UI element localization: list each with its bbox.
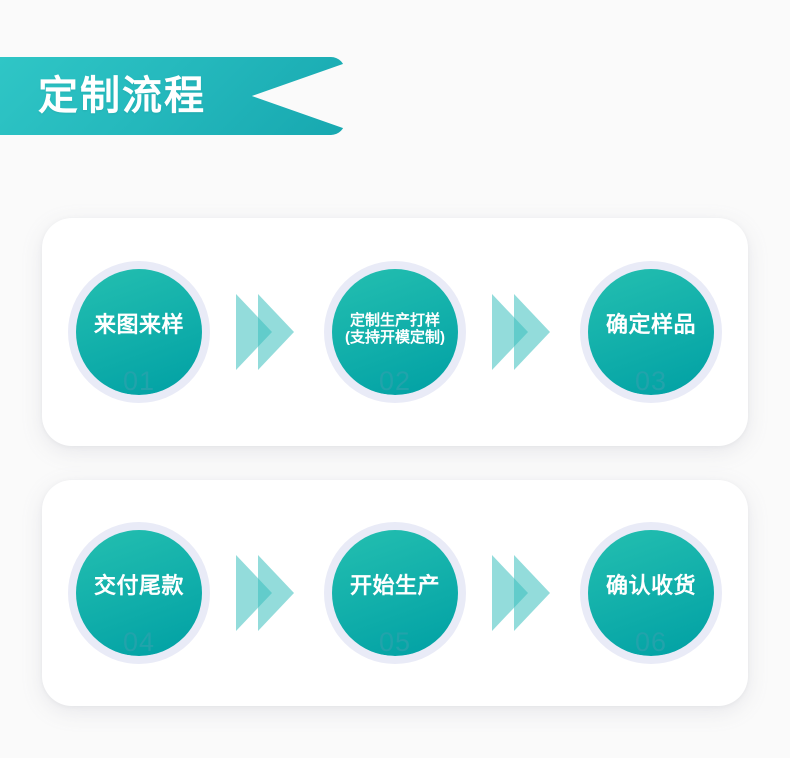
step-number: 03 [580, 368, 722, 395]
double-chevron-right-icon [492, 294, 554, 370]
process-step-06[interactable]: 确认收货 06 [580, 522, 722, 664]
chevron-triangle-front [258, 294, 294, 370]
step-label: 确认收货 [606, 573, 696, 598]
chevron-triangle-front [514, 294, 550, 370]
step-number: 01 [68, 368, 210, 395]
process-card-row-2: 交付尾款 04 开始生产 05 确认收货 06 [42, 480, 748, 706]
step-number: 04 [68, 629, 210, 656]
step-number: 05 [324, 629, 466, 656]
step-label-group: 定制生产打样 (支持开模定制) [345, 312, 445, 347]
process-step-05[interactable]: 开始生产 05 [324, 522, 466, 664]
process-step-01[interactable]: 来图来样 01 [68, 261, 210, 403]
step-label: 确定样品 [606, 312, 696, 337]
page-title: 定制流程 [38, 76, 206, 116]
step-label: 交付尾款 [94, 573, 184, 598]
process-card-row-1: 来图来样 01 定制生产打样 (支持开模定制) 02 确定样品 03 [42, 218, 748, 446]
process-step-04[interactable]: 交付尾款 04 [68, 522, 210, 664]
page-banner: 定制流程 [0, 57, 345, 135]
step-label: 开始生产 [350, 573, 440, 598]
step-label: 来图来样 [94, 312, 184, 337]
chevron-triangle-front [514, 555, 550, 631]
double-chevron-right-icon [492, 555, 554, 631]
step-number: 02 [324, 368, 466, 395]
double-chevron-right-icon [236, 294, 298, 370]
double-chevron-right-icon [236, 555, 298, 631]
chevron-triangle-front [258, 555, 294, 631]
process-step-02[interactable]: 定制生产打样 (支持开模定制) 02 [324, 261, 466, 403]
process-step-03[interactable]: 确定样品 03 [580, 261, 722, 403]
step-label-secondary: (支持开模定制) [345, 329, 445, 346]
step-number: 06 [580, 629, 722, 656]
step-label: 定制生产打样 [350, 312, 440, 329]
